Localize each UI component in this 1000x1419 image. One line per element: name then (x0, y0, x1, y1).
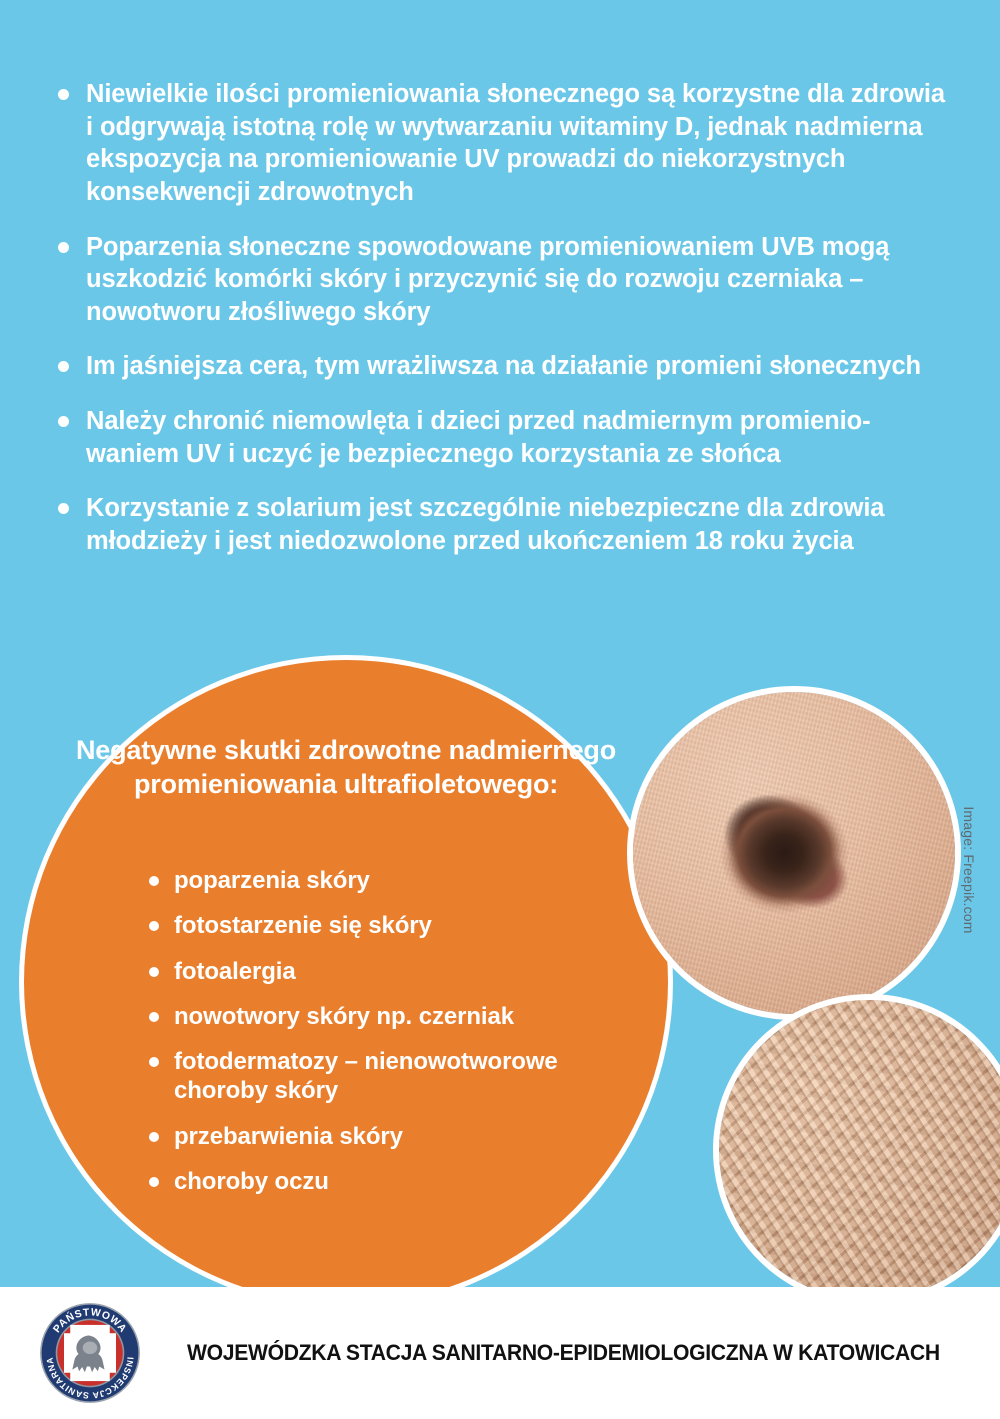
image-credit: Image: Freepik.com (961, 785, 977, 955)
sanitary-inspection-logo: PAŃSTWOWA INSPEKCJA SANITARNA (38, 1301, 142, 1405)
bullet-dot-icon (149, 876, 159, 886)
top-bullet-text: Korzystanie z solarium jest szczególnie … (86, 494, 884, 555)
circle-bullet-text: fotodermatozy – nienowotworowe choroby s… (174, 1048, 558, 1104)
bullet-dot-icon (149, 1012, 159, 1022)
top-bullet-text: Niewielkie ilości promieniowania słonecz… (86, 80, 945, 206)
top-bullet-item: Im jaśniejsza cera, tym wrażliwsza na dz… (52, 350, 952, 383)
circle-bullet-item: fotodermatozy – nienowotworowe choroby s… (146, 1047, 646, 1106)
circle-bullet-item: fotostarzenie się skóry (146, 911, 646, 940)
top-bullet-item: Poparzenia słoneczne spowodowane promien… (52, 231, 952, 329)
melanoma-photo (633, 692, 955, 1014)
circle-bullet-item: poparzenia skóry (146, 866, 646, 895)
uv-health-infographic: Niewielkie ilości promieniowania słonecz… (0, 0, 1000, 1419)
bullet-dot-icon (149, 967, 159, 977)
circle-bullet-text: poparzenia skóry (174, 867, 370, 894)
top-bullet-item: Niewielkie ilości promieniowania słonecz… (52, 78, 952, 209)
circle-bullet-item: nowotwory skóry np. czerniak (146, 1002, 646, 1031)
circle-bullet-item: fotoalergia (146, 957, 646, 986)
circle-bullet-text: choroby oczu (174, 1168, 329, 1195)
bullet-dot-icon (58, 361, 69, 372)
circle-bullet-item: choroby oczu (146, 1167, 646, 1196)
orange-circle-panel: Negatywne skutki zdrowotne nadmiernego p… (24, 660, 668, 1287)
top-bullet-text: Należy chronić niemowlęta i dzieci przed… (86, 407, 871, 468)
blue-stage: Niewielkie ilości promieniowania słonecz… (0, 0, 1000, 1287)
top-bullet-list: Niewielkie ilości promieniowania słonecz… (52, 78, 952, 558)
bullet-dot-icon (149, 1132, 159, 1142)
bullet-dot-icon (149, 921, 159, 931)
top-bullet-item: Należy chronić niemowlęta i dzieci przed… (52, 405, 952, 470)
circle-bullet-text: nowotwory skóry np. czerniak (174, 1003, 514, 1030)
circle-heading: Negatywne skutki zdrowotne nadmiernego p… (24, 734, 668, 802)
bullet-dot-icon (58, 503, 69, 514)
bullet-dot-icon (149, 1177, 159, 1187)
logo-emblem-icon: PAŃSTWOWA INSPEKCJA SANITARNA (38, 1301, 142, 1405)
bullet-dot-icon (58, 89, 69, 100)
bullet-dot-icon (149, 1057, 159, 1067)
top-bullet-text: Poparzenia słoneczne spowodowane promien… (86, 233, 889, 326)
top-bullet-text: Im jaśniejsza cera, tym wrażliwsza na dz… (86, 352, 921, 380)
circle-bullet-text: fotostarzenie się skóry (174, 912, 432, 939)
footer-bar: PAŃSTWOWA INSPEKCJA SANITARNA WOJEWÓDZKA… (0, 1287, 1000, 1419)
top-bullet-item: Korzystanie z solarium jest szczególnie … (52, 492, 952, 557)
footer-organization-title: WOJEWÓDZKA STACJA SANITARNO-EPIDEMIOLOGI… (187, 1340, 940, 1366)
circle-bullet-list: poparzenia skóry fotostarzenie się skóry… (146, 866, 646, 1212)
bullet-dot-icon (58, 416, 69, 427)
circle-bullet-text: przebarwienia skóry (174, 1123, 403, 1150)
circle-bullet-item: przebarwienia skóry (146, 1122, 646, 1151)
aged-skin-photo (719, 1000, 1000, 1287)
circle-bullet-text: fotoalergia (174, 958, 296, 985)
bullet-dot-icon (58, 242, 69, 253)
